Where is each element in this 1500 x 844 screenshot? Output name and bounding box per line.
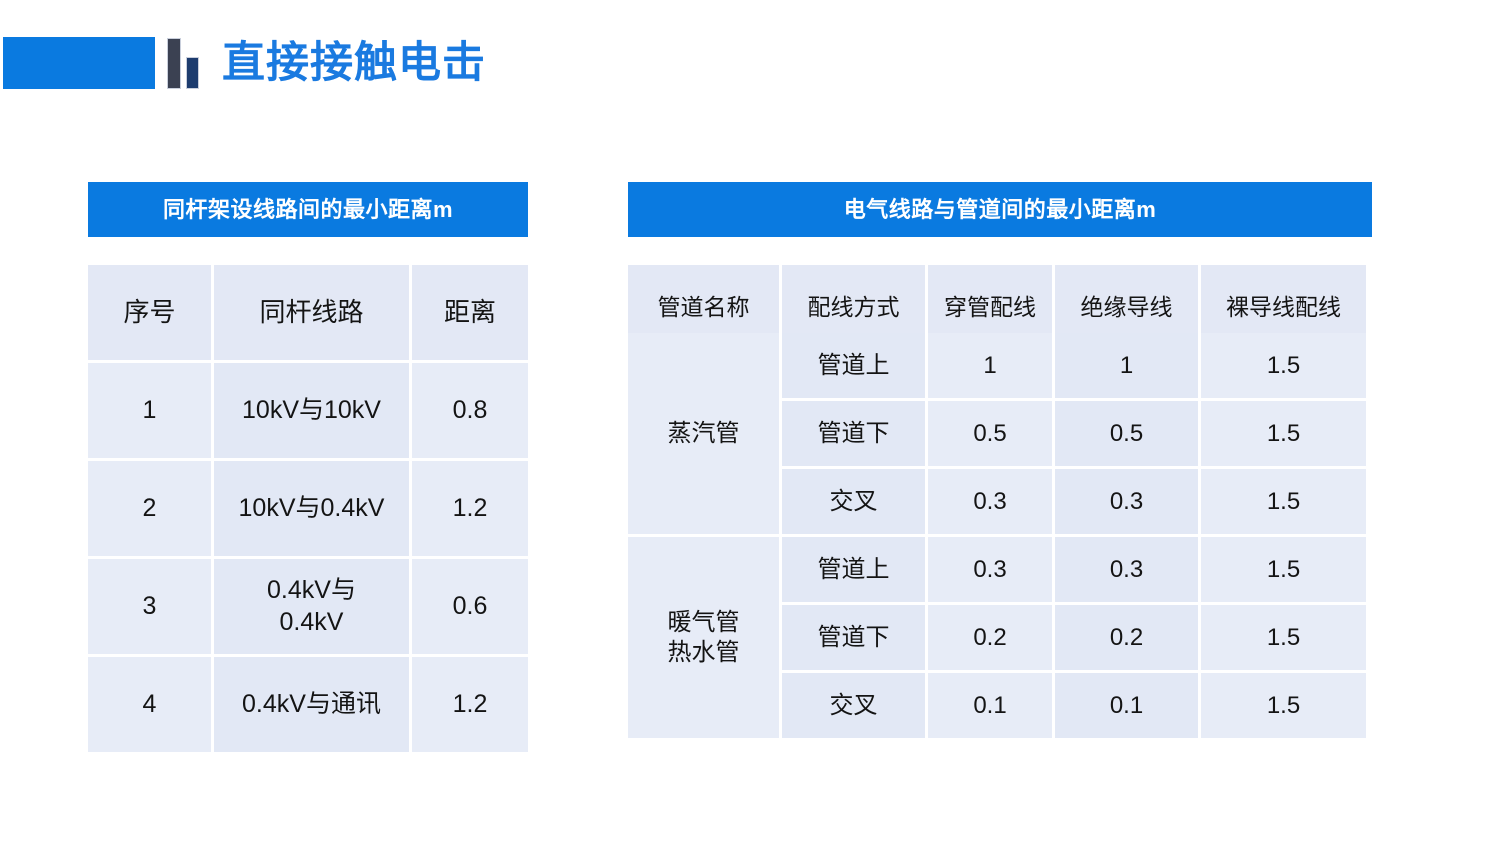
table-cell-insulated: 1 [1055, 333, 1198, 398]
left-table-header-cell: 距离 [412, 265, 528, 360]
table-cell-method: 交叉 [782, 469, 925, 534]
table-cell-distance: 0.8 [412, 363, 528, 458]
table-cell-line: 0.4kV与通讯 [214, 657, 409, 752]
left-table-block: 同杆架设线路间的最小距离m 序号同杆线路距离110kV与10kV0.8210kV… [88, 182, 528, 752]
table-cell-no: 1 [88, 363, 211, 458]
table-cell-no: 4 [88, 657, 211, 752]
left-table-header-cell: 同杆线路 [214, 265, 409, 360]
table-cell-insulated: 0.3 [1055, 537, 1198, 602]
table-cell-line: 10kV与10kV [214, 363, 409, 458]
table-cell-bare: 1.5 [1201, 469, 1366, 534]
header-bar-short-icon [186, 57, 199, 89]
table-cell-line: 10kV与0.4kV [214, 461, 409, 556]
header-bar-tall-icon [167, 38, 181, 89]
table-cell-bare: 1.5 [1201, 333, 1366, 398]
table-cell-method: 交叉 [782, 673, 925, 738]
table-cell-insulated: 0.1 [1055, 673, 1198, 738]
header-accent-block [3, 37, 155, 89]
right-table-block: 电气线路与管道间的最小距离m 管道名称配线方式穿管配线绝缘导线裸导线配线蒸汽管管… [628, 182, 1372, 738]
table-cell-conduit: 0.5 [928, 401, 1052, 466]
table-cell-method: 管道下 [782, 605, 925, 670]
table-cell-conduit: 1 [928, 333, 1052, 398]
table-cell-conduit: 0.3 [928, 537, 1052, 602]
table-cell-pipe-name: 暖气管 热水管 [628, 537, 779, 738]
left-table-grid: 序号同杆线路距离110kV与10kV0.8210kV与0.4kV1.230.4k… [88, 265, 528, 752]
page-header: 直接接触电击 [0, 0, 1500, 130]
table-cell-method: 管道上 [782, 537, 925, 602]
table-cell-bare: 1.5 [1201, 673, 1366, 738]
table-cell-insulated: 0.3 [1055, 469, 1198, 534]
table-cell-bare: 1.5 [1201, 605, 1366, 670]
table-cell-distance: 1.2 [412, 657, 528, 752]
table-cell-distance: 0.6 [412, 559, 528, 654]
table-cell-distance: 1.2 [412, 461, 528, 556]
table-cell-insulated: 0.2 [1055, 605, 1198, 670]
table-cell-conduit: 0.2 [928, 605, 1052, 670]
table-cell-method: 管道下 [782, 401, 925, 466]
table-cell-conduit: 0.1 [928, 673, 1052, 738]
table-cell-bare: 1.5 [1201, 537, 1366, 602]
table-cell-insulated: 0.5 [1055, 401, 1198, 466]
table-cell-method: 管道上 [782, 333, 925, 398]
table-cell-no: 2 [88, 461, 211, 556]
right-table-grid: 管道名称配线方式穿管配线绝缘导线裸导线配线蒸汽管管道上111.5管道下0.50.… [628, 265, 1372, 738]
right-table-title: 电气线路与管道间的最小距离m [628, 182, 1372, 237]
table-cell-conduit: 0.3 [928, 469, 1052, 534]
table-cell-bare: 1.5 [1201, 401, 1366, 466]
page-title: 直接接触电击 [222, 36, 486, 90]
left-table-title: 同杆架设线路间的最小距离m [88, 182, 528, 237]
table-cell-pipe-name: 蒸汽管 [628, 333, 779, 534]
left-table-header-cell: 序号 [88, 265, 211, 360]
table-cell-line: 0.4kV与 0.4kV [214, 559, 409, 654]
table-cell-no: 3 [88, 559, 211, 654]
